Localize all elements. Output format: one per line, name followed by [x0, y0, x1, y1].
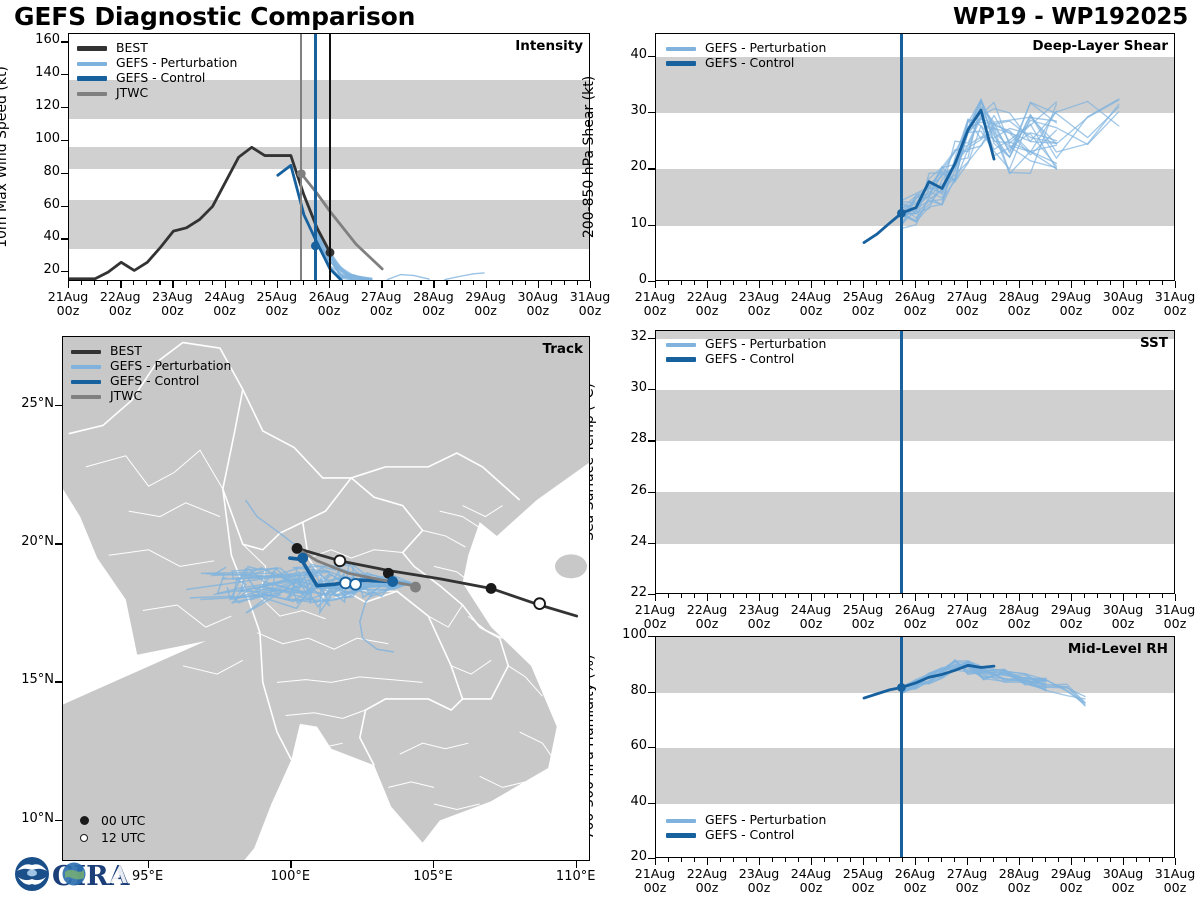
- legend-label-control: GEFS - Control: [110, 375, 199, 387]
- rh-xtick-minor: [824, 858, 825, 862]
- xtick-day: 31Aug: [1155, 866, 1196, 881]
- rh-xtick-minor: [1097, 858, 1098, 862]
- sst-xtick-minor: [785, 594, 786, 598]
- legend-label-best: BEST: [116, 42, 148, 54]
- sst-xtick-minor: [889, 594, 890, 598]
- sst-xtick-minor: [720, 594, 721, 598]
- intensity-xtick-minor: [473, 281, 474, 285]
- intensity-ytick-label-80: 80: [16, 164, 60, 179]
- xtick-hour: 00z: [1112, 880, 1135, 895]
- intensity-xtick-mark-6: [381, 281, 382, 288]
- intensity-xtick-minor: [551, 281, 552, 285]
- intensity-xtick-minor: [407, 281, 408, 285]
- sst-xtick-minor: [733, 594, 734, 598]
- intensity-xtick-minor: [303, 281, 304, 285]
- rh-xtick-minor: [993, 858, 994, 862]
- sst-ytick-mark-32: [648, 338, 655, 339]
- intensity-xtick-minor: [81, 281, 82, 285]
- intensity-ytick-label-60: 60: [16, 197, 60, 212]
- perturbation-swatch: [666, 343, 696, 347]
- sst-xtick-minor: [1097, 594, 1098, 598]
- intensity-xtick-minor: [186, 281, 187, 285]
- rh-xtick-minor: [785, 858, 786, 862]
- rh-xtick-minor: [850, 858, 851, 862]
- rh-xtick-minor: [694, 858, 695, 862]
- sst-xtick-minor: [876, 594, 877, 598]
- intensity-ytick-label-160: 160: [16, 32, 60, 47]
- intensity-xtick-minor: [264, 281, 265, 285]
- sst-xtick-mark-4: [863, 594, 864, 601]
- shear-xtick-minor: [694, 281, 695, 285]
- xtick-hour: 00z: [748, 880, 771, 895]
- legend-entry-best: BEST: [77, 41, 237, 56]
- rh-xtick-mark-6: [967, 858, 968, 865]
- intensity-ytick-label-20: 20: [16, 262, 60, 277]
- intensity-ytick-label-100: 100: [16, 131, 60, 146]
- sst-data-layer: [656, 331, 1174, 593]
- track-position-marker-1: [334, 555, 345, 566]
- sst-xtick-minor: [1058, 594, 1059, 598]
- xtick-hour: 00z: [1164, 880, 1187, 895]
- panel-shear: Deep-Layer ShearGEFS - PerturbationGEFS …: [655, 33, 1175, 281]
- track-xtick-label-110: 110°E: [538, 870, 614, 885]
- shear-xtick-minor: [902, 281, 903, 285]
- rh-ytick-mark-80: [648, 692, 655, 693]
- sst-ytick-label-24: 24: [603, 534, 647, 549]
- xtick-hour: 00z: [109, 303, 132, 318]
- xtick-day: 31Aug: [1155, 602, 1196, 617]
- jtwc-swatch: [71, 395, 101, 399]
- shear-xtick-minor: [1097, 281, 1098, 285]
- rh-xtick-minor: [720, 858, 721, 862]
- intensity-xtick-minor: [199, 281, 200, 285]
- legend-entry-jtwc: JTWC: [77, 86, 237, 101]
- legend-label-control: GEFS - Control: [116, 72, 205, 84]
- intensity-xtick-mark-2: [172, 281, 173, 288]
- intensity-panel-title: Intensity: [515, 38, 583, 54]
- xtick-hour: 00z: [748, 303, 771, 318]
- utc-legend-label: 00 UTC: [101, 813, 145, 828]
- sst-xtick-mark-6: [967, 594, 968, 601]
- track-ytick-label-25: 25°N: [0, 396, 54, 411]
- shear-xtick-mark-1: [707, 281, 708, 288]
- xtick-hour: 00z: [57, 303, 80, 318]
- xtick-hour: 00z: [644, 880, 667, 895]
- intensity-xtick-minor: [564, 281, 565, 285]
- xtick-day: 31Aug: [570, 289, 611, 304]
- rh-xtick-mark-1: [707, 858, 708, 865]
- sst-xtick-minor: [850, 594, 851, 598]
- shear-ytick-mark-10: [648, 225, 655, 226]
- panel-track: TrackBESTGEFS - PerturbationGEFS - Contr…: [62, 336, 590, 861]
- sst-plot-area: [656, 331, 1174, 593]
- shear-xtick-mark-4: [863, 281, 864, 288]
- intensity-vline-best-time: [329, 34, 331, 280]
- track-position-marker-5: [297, 553, 308, 564]
- track-xtick-mark-105: [433, 861, 434, 868]
- filled-dot-icon: [75, 813, 93, 828]
- shear-xtick-mark-6: [967, 281, 968, 288]
- rh-xtick-minor: [889, 858, 890, 862]
- control-swatch: [666, 61, 696, 66]
- rh-xtick-minor: [798, 858, 799, 862]
- legend-entry-control: GEFS - Control: [666, 56, 826, 71]
- legend-label-perturbation: GEFS - Perturbation: [705, 338, 826, 350]
- intensity-ytick-mark-140: [61, 74, 68, 75]
- rh-xtick-minor: [733, 858, 734, 862]
- shear-xtick-mark-7: [1019, 281, 1020, 288]
- xtick-hour: 00z: [1060, 616, 1083, 631]
- intensity-xtick-minor: [446, 281, 447, 285]
- shear-xtick-mark-8: [1071, 281, 1072, 288]
- intensity-xtick-minor: [577, 281, 578, 285]
- track-position-marker-3: [486, 583, 497, 594]
- rh-xtick-mark-9: [1123, 858, 1124, 865]
- legend-entry-control: GEFS - Control: [666, 352, 826, 367]
- intensity-xtick-minor: [499, 281, 500, 285]
- panel-sst: SSTGEFS - PerturbationGEFS - Control: [655, 330, 1175, 594]
- shear-xtick-minor: [785, 281, 786, 285]
- intensity-ytick-label-40: 40: [16, 229, 60, 244]
- shear-xtick-mark-3: [811, 281, 812, 288]
- shear-xtick-minor: [954, 281, 955, 285]
- track-ytick-mark-25: [55, 405, 62, 406]
- shear-xtick-minor: [1084, 281, 1085, 285]
- shear-xtick-minor: [1032, 281, 1033, 285]
- xtick-hour: 00z: [696, 616, 719, 631]
- intensity-xtick-minor: [525, 281, 526, 285]
- sst-xtick-mark-3: [811, 594, 812, 601]
- track-xtick-label-105: 105°E: [395, 870, 471, 885]
- track-panel-title: Track: [543, 341, 583, 357]
- rh-xtick-minor: [668, 858, 669, 862]
- control-swatch: [666, 357, 696, 362]
- cira-noaa-logo: CIRA: [10, 852, 150, 896]
- sst-xtick-minor: [746, 594, 747, 598]
- legend-label-perturbation: GEFS - Perturbation: [110, 360, 231, 372]
- sst-ytick-mark-26: [648, 492, 655, 493]
- track-ytick-mark-20: [55, 543, 62, 544]
- xtick-hour: 00z: [1060, 880, 1083, 895]
- intensity-xtick-minor: [133, 281, 134, 285]
- sst-xtick-minor: [1084, 594, 1085, 598]
- intensity-xtick-mark-0: [68, 281, 69, 288]
- shear-legend: GEFS - PerturbationGEFS - Control: [666, 41, 826, 71]
- legend-entry-perturbation: GEFS - Perturbation: [666, 813, 826, 828]
- rh-xtick-minor: [1006, 858, 1007, 862]
- sst-ytick-label-26: 26: [603, 483, 647, 498]
- legend-entry-perturbation: GEFS - Perturbation: [77, 56, 237, 71]
- xtick-hour: 00z: [748, 616, 771, 631]
- sst-xtick-minor: [928, 594, 929, 598]
- xtick-hour: 00z: [800, 303, 823, 318]
- xtick-hour: 00z: [852, 880, 875, 895]
- intensity-xtick-minor: [316, 281, 317, 285]
- xtick-hour: 00z: [474, 303, 497, 318]
- sst-xtick-minor: [668, 594, 669, 598]
- legend-entry-control: GEFS - Control: [666, 828, 826, 843]
- track-ytick-mark-15: [55, 681, 62, 682]
- sst-xtick-mark-2: [759, 594, 760, 601]
- shear-xtick-minor: [928, 281, 929, 285]
- shear-xtick-minor: [1006, 281, 1007, 285]
- shear-xtick-minor: [850, 281, 851, 285]
- rh-ytick-mark-40: [648, 803, 655, 804]
- perturbation-swatch: [77, 62, 107, 66]
- sst-xtick-minor: [1110, 594, 1111, 598]
- intensity-xtick-minor: [460, 281, 461, 285]
- legend-label-jtwc: JTWC: [116, 87, 148, 99]
- rh-ytick-label-100: 100: [603, 627, 647, 642]
- sst-ytick-mark-28: [648, 440, 655, 441]
- sst-xtick-mark-5: [915, 594, 916, 601]
- shear-ytick-mark-20: [648, 168, 655, 169]
- sst-legend: GEFS - PerturbationGEFS - Control: [666, 337, 826, 367]
- intensity-xtick-mark-3: [225, 281, 226, 288]
- shear-ytick-label-30: 30: [603, 103, 647, 118]
- sst-xtick-minor: [1045, 594, 1046, 598]
- rh-xtick-minor: [1032, 858, 1033, 862]
- intensity-xtick-minor: [94, 281, 95, 285]
- intensity-ytick-mark-60: [61, 206, 68, 207]
- rh-xtick-minor: [1162, 858, 1163, 862]
- control-swatch: [77, 76, 107, 81]
- rh-xtick-minor: [772, 858, 773, 862]
- intensity-ytick-mark-20: [61, 271, 68, 272]
- shear-xtick-minor: [1110, 281, 1111, 285]
- shear-xtick-minor: [772, 281, 773, 285]
- rh-ytick-mark-20: [648, 858, 655, 859]
- xtick-hour: 00z: [1112, 303, 1135, 318]
- xtick-hour: 00z: [956, 880, 979, 895]
- rh-xtick-minor: [980, 858, 981, 862]
- shear-xtick-minor: [681, 281, 682, 285]
- sst-xtick-minor: [681, 594, 682, 598]
- xtick-hour: 00z: [956, 303, 979, 318]
- shear-ytick-label-0: 0: [603, 272, 647, 287]
- track-position-marker-9: [410, 582, 421, 593]
- legend-label-jtwc: JTWC: [110, 390, 142, 402]
- intensity-yaxis-title: 10m Max Wind Speed (kt): [0, 66, 10, 248]
- rh-ytick-mark-60: [648, 747, 655, 748]
- rh-xtick-minor: [1045, 858, 1046, 862]
- xtick-hour: 00z: [1164, 616, 1187, 631]
- shear-ytick-label-10: 10: [603, 216, 647, 231]
- intensity-ytick-mark-40: [61, 238, 68, 239]
- intensity-xtick-minor: [146, 281, 147, 285]
- xtick-hour: 00z: [800, 880, 823, 895]
- jtwc-swatch: [77, 92, 107, 96]
- intensity-xtick-minor: [355, 281, 356, 285]
- intensity-legend: BESTGEFS - PerturbationGEFS - ControlJTW…: [77, 41, 237, 101]
- legend-label-control: GEFS - Control: [705, 353, 794, 365]
- xtick-hour: 00z: [904, 880, 927, 895]
- rh-xtick-minor: [1084, 858, 1085, 862]
- intensity-xtick-minor: [251, 281, 252, 285]
- shear-xtick-minor: [837, 281, 838, 285]
- xtick-hour: 00z: [318, 303, 341, 318]
- rh-ytick-label-80: 80: [603, 683, 647, 698]
- xtick-hour: 00z: [526, 303, 549, 318]
- legend-entry-control: GEFS - Control: [71, 374, 231, 389]
- shear-xtick-mark-9: [1123, 281, 1124, 288]
- xtick-hour: 00z: [213, 303, 236, 318]
- track-xtick-label-100: 100°E: [252, 870, 328, 885]
- xtick-hour: 00z: [904, 616, 927, 631]
- rh-xtick-minor: [681, 858, 682, 862]
- intensity-xtick-minor: [420, 281, 421, 285]
- xtick-hour: 00z: [644, 303, 667, 318]
- xtick-hour: 00z: [1008, 880, 1031, 895]
- rh-legend: GEFS - PerturbationGEFS - Control: [666, 813, 826, 843]
- rh-xtick-mark-2: [759, 858, 760, 865]
- shear-xtick-minor: [1162, 281, 1163, 285]
- control-swatch: [666, 833, 696, 838]
- best-swatch: [71, 350, 101, 354]
- intensity-xtick-minor: [238, 281, 239, 285]
- utc-legend-label: 12 UTC: [101, 830, 145, 845]
- shear-ytick-mark-0: [648, 281, 655, 282]
- sst-xtick-minor: [694, 594, 695, 598]
- track-ytick-label-10: 10°N: [0, 811, 54, 826]
- open-dot-icon: [75, 830, 93, 845]
- sst-xtick-label-10: 31Aug00z: [1137, 603, 1200, 631]
- xtick-hour: 00z: [370, 303, 393, 318]
- intensity-xtick-minor: [159, 281, 160, 285]
- intensity-xtick-minor: [394, 281, 395, 285]
- panel-rh: Mid-Level RHGEFS - PerturbationGEFS - Co…: [655, 636, 1175, 858]
- sst-xtick-mark-7: [1019, 594, 1020, 601]
- rh-xtick-mark-0: [655, 858, 656, 865]
- rh-ytick-label-20: 20: [603, 849, 647, 864]
- rh-xtick-minor: [1110, 858, 1111, 862]
- sst-ytick-mark-24: [648, 543, 655, 544]
- perturbation-swatch: [71, 365, 101, 369]
- sst-xtick-minor: [1136, 594, 1137, 598]
- track-position-marker-6: [340, 578, 351, 589]
- sst-xtick-minor: [993, 594, 994, 598]
- sst-xtick-minor: [1162, 594, 1163, 598]
- hainan-island: [555, 554, 587, 578]
- legend-label-best: BEST: [110, 345, 142, 357]
- shear-xtick-minor: [746, 281, 747, 285]
- sst-xtick-minor: [824, 594, 825, 598]
- rh-xtick-minor: [837, 858, 838, 862]
- sst-ytick-label-32: 32: [603, 329, 647, 344]
- xtick-hour: 00z: [161, 303, 184, 318]
- intensity-vline-jtwc-init: [300, 34, 302, 280]
- rh-xtick-minor: [1136, 858, 1137, 862]
- rh-vline-gefs-init: [900, 637, 902, 857]
- track-xtick-mark-100: [290, 861, 291, 868]
- shear-xtick-minor: [668, 281, 669, 285]
- legend-label-perturbation: GEFS - Perturbation: [116, 57, 237, 69]
- track-position-marker-0: [292, 543, 303, 554]
- track-ytick-mark-10: [55, 820, 62, 821]
- track-legend: BESTGEFS - PerturbationGEFS - ControlJTW…: [71, 344, 231, 404]
- sst-xtick-minor: [1006, 594, 1007, 598]
- intensity-xtick-mark-5: [329, 281, 330, 288]
- legend-entry-perturbation: GEFS - Perturbation: [71, 359, 231, 374]
- rh-ytick-label-60: 60: [603, 738, 647, 753]
- rh-xtick-minor: [1058, 858, 1059, 862]
- rh-xtick-mark-3: [811, 858, 812, 865]
- sst-xtick-minor: [941, 594, 942, 598]
- sst-vline-gefs-init: [900, 331, 902, 593]
- shear-vline-gefs-init: [900, 34, 902, 280]
- xtick-hour: 00z: [1008, 616, 1031, 631]
- intensity-ytick-mark-80: [61, 173, 68, 174]
- shear-xtick-minor: [1136, 281, 1137, 285]
- utc-legend-row: 12 UTC: [75, 829, 145, 846]
- panel-intensity: IntensityBESTGEFS - PerturbationGEFS - C…: [68, 33, 590, 281]
- rh-xtick-minor: [941, 858, 942, 862]
- intensity-xtick-minor: [512, 281, 513, 285]
- intensity-xtick-mark-1: [120, 281, 121, 288]
- rh-panel-title: Mid-Level RH: [1068, 641, 1168, 657]
- track-ytick-label-20: 20°N: [0, 534, 54, 549]
- xtick-hour: 00z: [956, 616, 979, 631]
- sst-xtick-minor: [902, 594, 903, 598]
- xtick-hour: 00z: [1008, 303, 1031, 318]
- sst-xtick-minor: [980, 594, 981, 598]
- shear-xtick-minor: [889, 281, 890, 285]
- track-position-marker-8: [387, 576, 398, 587]
- page-title: GEFS Diagnostic Comparison: [14, 2, 415, 31]
- shear-xtick-minor: [733, 281, 734, 285]
- control-swatch: [71, 380, 101, 384]
- intensity-ytick-mark-120: [61, 107, 68, 108]
- sst-ytick-label-30: 30: [603, 380, 647, 395]
- xtick-hour: 00z: [852, 616, 875, 631]
- track-map-canvas: [63, 337, 590, 861]
- rh-xtick-mark-4: [863, 858, 864, 865]
- sst-ytick-mark-22: [648, 594, 655, 595]
- xtick-hour: 00z: [852, 303, 875, 318]
- perturbation-swatch: [666, 819, 696, 823]
- intensity-xtick-mark-9: [538, 281, 539, 288]
- rh-xtick-label-10: 31Aug00z: [1137, 867, 1200, 895]
- sst-xtick-minor: [1032, 594, 1033, 598]
- legend-label-control: GEFS - Control: [705, 57, 794, 69]
- xtick-hour: 00z: [1112, 616, 1135, 631]
- shear-ytick-label-40: 40: [603, 47, 647, 62]
- shear-xtick-mark-5: [915, 281, 916, 288]
- shear-panel-title: Deep-Layer Shear: [1032, 38, 1168, 54]
- intensity-xtick-mark-4: [277, 281, 278, 288]
- sst-xtick-mark-0: [655, 594, 656, 601]
- track-xtick-mark-110: [576, 861, 577, 868]
- shear-xtick-minor: [876, 281, 877, 285]
- sst-xtick-minor: [1149, 594, 1150, 598]
- shear-xtick-minor: [824, 281, 825, 285]
- xtick-day: 31Aug: [1155, 289, 1196, 304]
- rh-xtick-minor: [1149, 858, 1150, 862]
- shear-xtick-minor: [1149, 281, 1150, 285]
- shear-xtick-minor: [1058, 281, 1059, 285]
- shear-ytick-label-20: 20: [603, 159, 647, 174]
- shear-xtick-mark-2: [759, 281, 760, 288]
- intensity-ytick-label-140: 140: [16, 65, 60, 80]
- xtick-hour: 00z: [1164, 303, 1187, 318]
- shear-xtick-minor: [941, 281, 942, 285]
- legend-entry-control: GEFS - Control: [77, 71, 237, 86]
- legend-label-perturbation: GEFS - Perturbation: [705, 42, 826, 54]
- xtick-hour: 00z: [579, 303, 602, 318]
- sst-xtick-minor: [772, 594, 773, 598]
- track-position-marker-4: [534, 598, 545, 609]
- best-swatch: [77, 46, 107, 51]
